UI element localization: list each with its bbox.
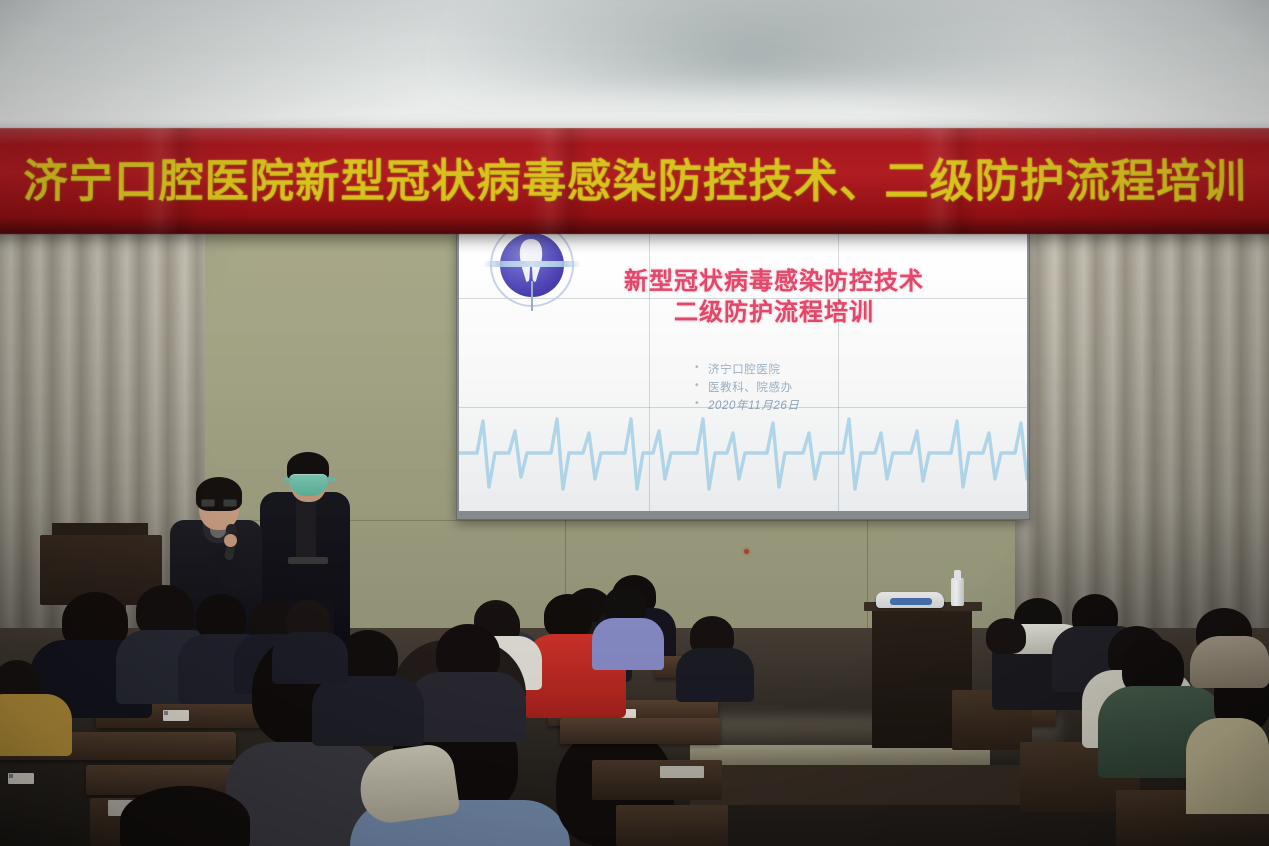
slide-bullet-item: 医教科、院感办 <box>695 379 799 397</box>
banner-text: 济宁口腔医院新型冠状病毒感染防控技术、二级防护流程培训 <box>0 145 1269 210</box>
auditorium-desk <box>616 805 728 846</box>
logo-stem <box>531 281 533 311</box>
seat-number-label <box>8 773 34 784</box>
ecg-waveform-graphic <box>459 409 1027 505</box>
seat-number-label <box>163 710 189 721</box>
slide-title: 新型冠状病毒感染防控技术 二级防护流程培训 <box>559 267 989 328</box>
tooth-glyph-icon <box>516 237 546 283</box>
ceiling-shadow <box>430 0 1070 90</box>
sanitizer-pump-icon <box>954 570 961 580</box>
slide-title-line2: 二级防护流程培训 <box>559 298 989 329</box>
wall-seam <box>867 518 868 638</box>
mask-strap <box>283 478 292 481</box>
stage-riser <box>690 765 1030 805</box>
wall-status-dot <box>744 549 749 554</box>
photo-scene: 新型冠状病毒感染防控技术 二级防护流程培训 济宁口腔医院 医教科、院感办 202… <box>0 0 1269 846</box>
auditorium-bench[interactable] <box>560 718 720 744</box>
hand-sanitizer-bottle <box>951 578 964 606</box>
slide-bullet-list: 济宁口腔医院 医教科、院感办 2020年11月26日 <box>655 361 799 415</box>
fur-hood <box>1190 636 1269 688</box>
slide-title-line1: 新型冠状病毒感染防控技术 <box>559 267 989 298</box>
presentation-screen[interactable]: 新型冠状病毒感染防控技术 二级防护流程培训 济宁口腔医院 医教科、院感办 202… <box>459 231 1027 511</box>
microphone-head <box>226 524 237 533</box>
presenter-masked-belt <box>288 557 328 564</box>
eyeglasses-icon <box>201 499 237 507</box>
presenter-masked-shirt <box>296 495 316 559</box>
presenter-speaker-hand <box>224 534 237 547</box>
ppe-blue-wrap <box>890 598 932 605</box>
handout-paper <box>660 766 704 778</box>
mask-strap <box>327 478 336 481</box>
slide-bullet-item: 济宁口腔医院 <box>695 361 799 379</box>
red-training-banner: 济宁口腔医院新型冠状病毒感染防控技术、二级防护流程培训 <box>0 128 1269 234</box>
